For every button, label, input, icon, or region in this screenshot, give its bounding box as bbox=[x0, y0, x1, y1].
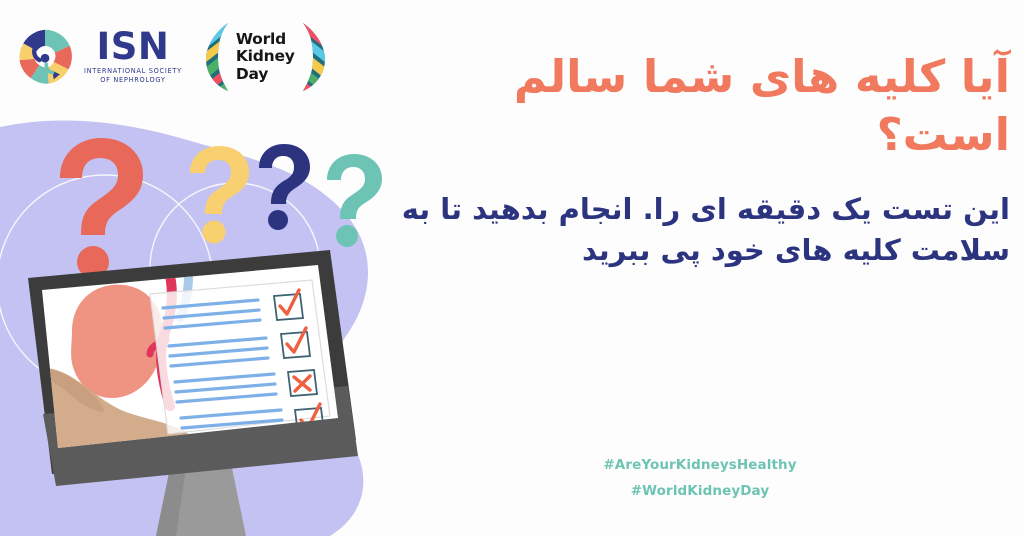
wkd-left-kidney-icon bbox=[204, 21, 234, 93]
hashtag-world-kidney-day: #WorldKidneyDay bbox=[390, 478, 1010, 504]
illustration-svg bbox=[0, 118, 440, 536]
isn-subtitle-line2: OF NEPHROLOGY bbox=[84, 76, 182, 85]
isn-subtitle: INTERNATIONAL SOCIETY OF NEPHROLOGY bbox=[84, 67, 182, 85]
isn-wordmark: ISN INTERNATIONAL SOCIETY OF NEPHROLOGY bbox=[84, 29, 182, 85]
wkd-wordmark: World Kidney Day bbox=[236, 31, 295, 83]
hashtag-block: #AreYourKidneysHealthy #WorldKidneyDay bbox=[390, 452, 1010, 505]
wkd-logo: World Kidney Day bbox=[204, 21, 327, 93]
logo-bar: ISN INTERNATIONAL SOCIETY OF NEPHROLOGY bbox=[14, 12, 334, 102]
wkd-line-3: Day bbox=[236, 66, 295, 83]
isn-logo: ISN INTERNATIONAL SOCIETY OF NEPHROLOGY bbox=[14, 26, 182, 88]
wkd-right-kidney-icon bbox=[297, 21, 327, 93]
isn-acronym: ISN bbox=[96, 29, 169, 64]
hashtag-are-your-kidneys-healthy: #AreYourKidneysHealthy bbox=[390, 452, 1010, 478]
wkd-line-1: World bbox=[236, 31, 295, 48]
isn-subtitle-line1: INTERNATIONAL SOCIETY bbox=[84, 67, 182, 76]
text-column: آیا کلیه های شما سالم است؟ این تست یک دق… bbox=[390, 48, 1010, 272]
poster-canvas: ISN INTERNATIONAL SOCIETY OF NEPHROLOGY bbox=[0, 0, 1024, 536]
page-subtitle: این تست یک دقیقه ای را. انجام بدهید تا ب… bbox=[390, 189, 1010, 271]
isn-mark-icon bbox=[14, 26, 76, 88]
page-title: آیا کلیه های شما سالم است؟ bbox=[390, 48, 1010, 163]
wkd-line-2: Kidney bbox=[236, 48, 295, 65]
kidney-quiz-illustration bbox=[0, 118, 440, 536]
